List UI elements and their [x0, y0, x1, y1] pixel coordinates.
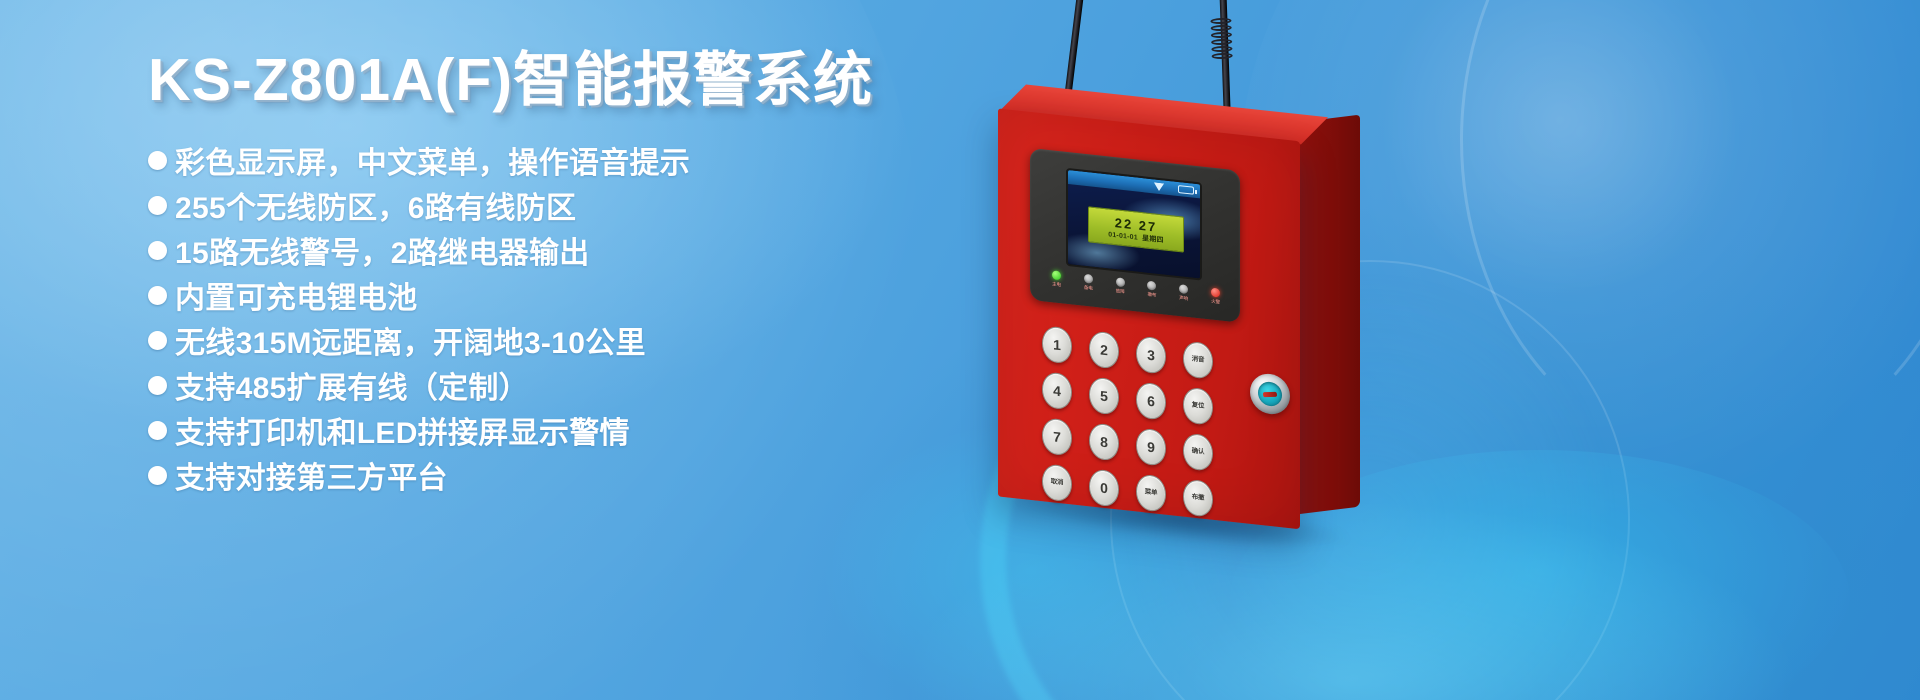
enclosure: 22 27 01-01-01 星期四 主电 — [998, 108, 1358, 539]
alarm-control-panel-product: 22 27 01-01-01 星期四 主电 — [940, 0, 1460, 700]
key-8[interactable]: 8 — [1089, 422, 1119, 461]
list-item: 15路无线警号，2路继电器输出 — [148, 228, 988, 273]
led-icon — [1052, 270, 1061, 280]
key-cancel[interactable]: 取消 — [1042, 463, 1072, 502]
feature-text: 15路无线警号，2路继电器输出 — [175, 228, 590, 272]
status-badge: 撤布 — [1147, 281, 1156, 299]
enclosure-front: 22 27 01-01-01 星期四 主电 — [998, 108, 1300, 529]
antenna-coil-icon — [1210, 18, 1232, 61]
key-2[interactable]: 2 — [1089, 330, 1119, 369]
list-item: 支持打印机和LED拼接屏显示警情 — [148, 408, 988, 453]
key-mute[interactable]: 消音 — [1183, 341, 1213, 380]
status-badge: 主电 — [1052, 270, 1061, 288]
feature-text: 支持485扩展有线（定制） — [175, 363, 529, 407]
key-7[interactable]: 7 — [1042, 417, 1072, 456]
status-badge: 火警 — [1211, 288, 1220, 306]
key-0[interactable]: 0 — [1089, 468, 1119, 507]
feature-text: 支持对接第三方平台 — [175, 453, 448, 497]
lcd-screen[interactable]: 22 27 01-01-01 星期四 — [1068, 170, 1200, 278]
led-label: 备电 — [1084, 285, 1093, 292]
enclosure-side — [1298, 115, 1360, 515]
faceplate: 22 27 01-01-01 星期四 主电 — [1030, 148, 1240, 323]
bullet-icon — [148, 286, 167, 305]
bullet-icon — [148, 331, 167, 350]
bullet-icon — [148, 241, 167, 260]
bullet-icon — [148, 466, 167, 485]
lcd-time: 22 27 — [1115, 216, 1158, 234]
key-arm[interactable]: 布撤 — [1183, 479, 1213, 518]
key-menu[interactable]: 菜单 — [1136, 473, 1166, 512]
feature-text: 无线315M远距离，开阔地3-10公里 — [175, 318, 646, 362]
feature-text: 255个无线防区，6路有线防区 — [175, 183, 576, 227]
key-9[interactable]: 9 — [1136, 427, 1166, 466]
bullet-icon — [148, 421, 167, 440]
key-4[interactable]: 4 — [1042, 371, 1072, 410]
list-item: 内置可充电锂电池 — [148, 273, 988, 318]
page-title: KS-Z801A(F)智能报警系统 — [148, 46, 988, 116]
list-item: 支持485扩展有线（定制） — [148, 363, 988, 408]
list-item: 255个无线防区，6路有线防区 — [148, 183, 988, 228]
key-confirm[interactable]: 确认 — [1183, 433, 1213, 472]
bullet-icon — [148, 151, 167, 170]
status-badge: 声响 — [1179, 284, 1188, 302]
key-5[interactable]: 5 — [1089, 376, 1119, 415]
list-item: 彩色显示屏，中文菜单，操作语音提示 — [148, 138, 988, 183]
led-label: 主电 — [1052, 281, 1061, 288]
feature-list: 彩色显示屏，中文菜单，操作语音提示 255个无线防区，6路有线防区 15路无线警… — [148, 138, 988, 498]
keypad[interactable]: 1 2 3 消音 4 5 6 复位 7 8 9 确认 取消 0 菜单 布撤 — [1042, 325, 1218, 518]
decor-arc-outline — [1460, 0, 1920, 460]
key-reset[interactable]: 复位 — [1183, 387, 1213, 426]
led-label: 故障 — [1116, 288, 1125, 295]
led-icon — [1179, 284, 1188, 294]
signal-icon — [1154, 182, 1164, 191]
marketing-copy: KS-Z801A(F)智能报警系统 彩色显示屏，中文菜单，操作语音提示 255个… — [148, 46, 988, 498]
status-badge: 备电 — [1084, 274, 1093, 292]
led-icon — [1084, 274, 1093, 284]
lock-cylinder — [1258, 381, 1282, 408]
banner-stage: KS-Z801A(F)智能报警系统 彩色显示屏，中文菜单，操作语音提示 255个… — [0, 0, 1920, 700]
feature-text: 彩色显示屏，中文菜单，操作语音提示 — [175, 138, 690, 182]
feature-text: 内置可充电锂电池 — [175, 273, 417, 317]
battery-icon — [1178, 185, 1194, 195]
led-label: 声响 — [1179, 295, 1188, 302]
led-icon — [1147, 281, 1156, 291]
status-badge: 故障 — [1116, 277, 1125, 295]
led-label: 撤布 — [1147, 292, 1156, 299]
key-3[interactable]: 3 — [1136, 335, 1166, 374]
feature-text: 支持打印机和LED拼接屏显示警情 — [175, 408, 630, 452]
led-icon — [1116, 277, 1125, 287]
led-label: 火警 — [1211, 299, 1220, 306]
bullet-icon — [148, 196, 167, 215]
key-1[interactable]: 1 — [1042, 325, 1072, 364]
lock-keyhole — [1263, 391, 1278, 396]
list-item: 无线315M远距离，开阔地3-10公里 — [148, 318, 988, 363]
key-lock-icon[interactable] — [1250, 372, 1290, 416]
bullet-icon — [148, 376, 167, 395]
key-6[interactable]: 6 — [1136, 381, 1166, 420]
led-icon — [1211, 288, 1220, 298]
list-item: 支持对接第三方平台 — [148, 453, 988, 498]
